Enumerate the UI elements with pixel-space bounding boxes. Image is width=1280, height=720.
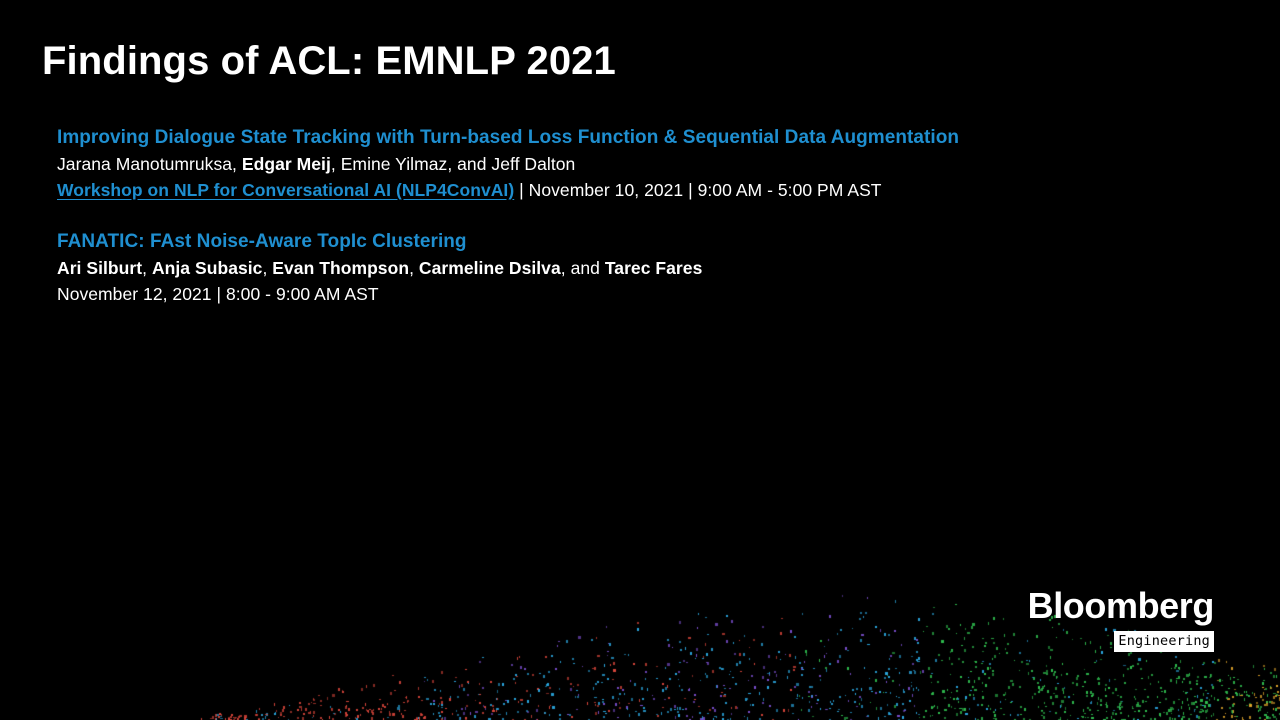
bloomberg-sublabel-wrap: Engineering: [1028, 631, 1214, 652]
author-name: Carmeline Dsilva: [419, 258, 561, 278]
list-item: Improving Dialogue State Tracking with T…: [57, 125, 1237, 203]
paper-list: Improving Dialogue State Tracking with T…: [57, 125, 1237, 307]
paper-meta: November 12, 2021 | 8:00 - 9:00 AM AST: [57, 281, 1237, 307]
author-separator: ,: [142, 258, 152, 278]
author-separator: , and: [561, 258, 605, 278]
author-separator: , Emine Yilmaz, and Jeff Dalton: [331, 154, 575, 174]
author-name: Evan Thompson: [272, 258, 409, 278]
paper-authors: Jarana Manotumruksa, Edgar Meij, Emine Y…: [57, 151, 1237, 177]
bloomberg-wordmark: Bloomberg: [1028, 587, 1214, 625]
paper-authors: Ari Silburt, Anja Subasic, Evan Thompson…: [57, 255, 1237, 281]
author-separator: ,: [409, 258, 419, 278]
paper-schedule: | November 10, 2021 | 9:00 AM - 5:00 PM …: [514, 180, 881, 200]
paper-title: Improving Dialogue State Tracking with T…: [57, 125, 1237, 151]
bloomberg-logo: Bloomberg Engineering: [1028, 587, 1214, 652]
author-separator: ,: [262, 258, 272, 278]
paper-title: FANATIC: FAst Noise-Aware TopIc Clusteri…: [57, 229, 1237, 255]
venue-link[interactable]: Workshop on NLP for Conversational AI (N…: [57, 180, 514, 200]
bloomberg-engineering-badge: Engineering: [1114, 631, 1214, 652]
paper-meta: Workshop on NLP for Conversational AI (N…: [57, 177, 1237, 203]
list-item: FANATIC: FAst Noise-Aware TopIc Clusteri…: [57, 229, 1237, 307]
author-separator: Jarana Manotumruksa,: [57, 154, 242, 174]
page-title: Findings of ACL: EMNLP 2021: [42, 38, 616, 84]
author-name: Edgar Meij: [242, 154, 331, 174]
author-name: Anja Subasic: [152, 258, 263, 278]
author-name: Tarec Fares: [605, 258, 703, 278]
paper-schedule: November 12, 2021 | 8:00 - 9:00 AM AST: [57, 284, 379, 304]
author-name: Ari Silburt: [57, 258, 142, 278]
presentation-slide: Findings of ACL: EMNLP 2021 Improving Di…: [0, 0, 1280, 720]
